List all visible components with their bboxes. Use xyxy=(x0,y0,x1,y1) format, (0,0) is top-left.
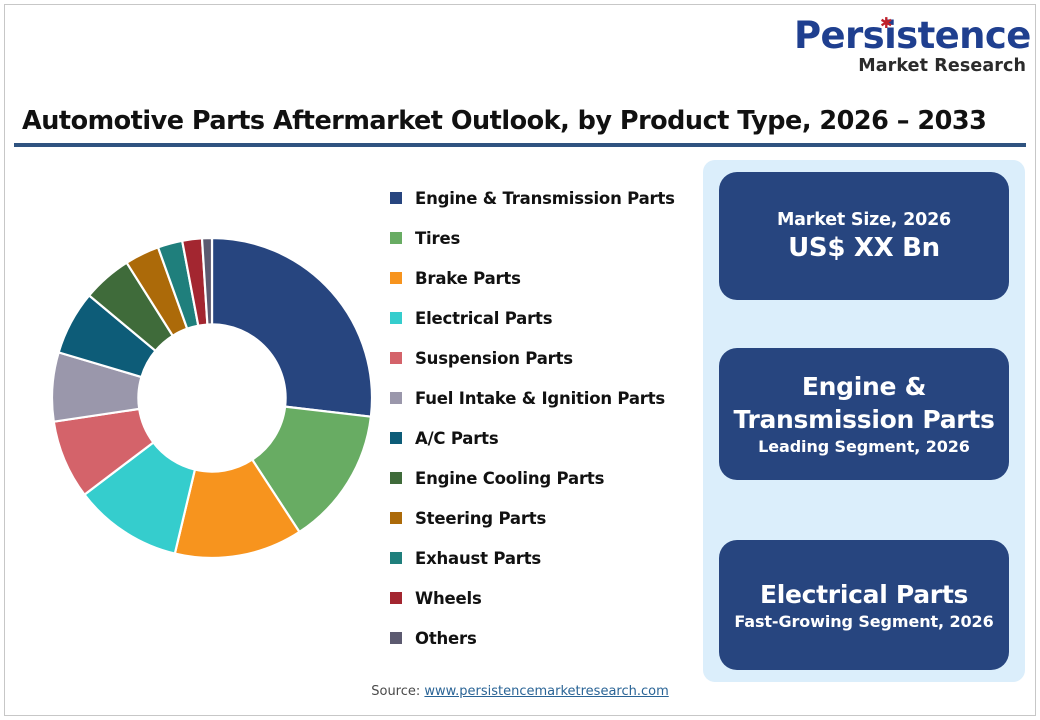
legend-item-label: Tires xyxy=(415,229,460,248)
legend-item[interactable]: Suspension Parts xyxy=(390,338,690,378)
legend-item[interactable]: Engine Cooling Parts xyxy=(390,458,690,498)
highlight-card-market-size: Market Size, 2026 US$ XX Bn xyxy=(719,172,1009,300)
legend-swatch-icon xyxy=(390,272,402,284)
legend-swatch-icon xyxy=(390,552,402,564)
legend-item-label: Exhaust Parts xyxy=(415,549,541,568)
legend-swatch-icon xyxy=(390,312,402,324)
legend-item-label: Electrical Parts xyxy=(415,309,552,328)
legend-item[interactable]: Electrical Parts xyxy=(390,298,690,338)
legend-item-label: A/C Parts xyxy=(415,429,498,448)
legend-item-label: Brake Parts xyxy=(415,269,521,288)
donut-slice[interactable] xyxy=(212,238,372,417)
legend-item[interactable]: Others xyxy=(390,618,690,658)
legend-swatch-icon xyxy=(390,592,402,604)
chart-legend: Engine & Transmission PartsTiresBrake Pa… xyxy=(390,178,690,658)
legend-item[interactable]: Tires xyxy=(390,218,690,258)
title-divider xyxy=(14,143,1026,147)
donut-slice-group xyxy=(52,238,372,558)
legend-item[interactable]: Steering Parts xyxy=(390,498,690,538)
legend-swatch-icon xyxy=(390,392,402,404)
source-url-link[interactable]: www.persistencemarketresearch.com xyxy=(424,684,668,699)
legend-item-label: Engine & Transmission Parts xyxy=(415,189,675,208)
card-fast-growing-segment-name: Electrical Parts xyxy=(760,578,968,611)
source-prefix-label: Source: xyxy=(371,684,424,699)
highlight-card-leading-segment: Engine & Transmission Parts Leading Segm… xyxy=(719,348,1009,480)
legend-swatch-icon xyxy=(390,232,402,244)
legend-item-label: Others xyxy=(415,629,477,648)
legend-item[interactable]: Fuel Intake & Ignition Parts xyxy=(390,378,690,418)
legend-swatch-icon xyxy=(390,352,402,364)
legend-item[interactable]: Brake Parts xyxy=(390,258,690,298)
legend-swatch-icon xyxy=(390,472,402,484)
brand-logo: Persistence ✱ Market Research xyxy=(794,16,1026,78)
legend-item-label: Engine Cooling Parts xyxy=(415,469,604,488)
brand-name-label: Persistence xyxy=(794,14,1031,57)
legend-item-label: Steering Parts xyxy=(415,509,546,528)
legend-item-label: Wheels xyxy=(415,589,482,608)
brand-name-text: Persistence ✱ xyxy=(794,16,1031,56)
legend-swatch-icon xyxy=(390,512,402,524)
legend-item-label: Suspension Parts xyxy=(415,349,573,368)
legend-item-label: Fuel Intake & Ignition Parts xyxy=(415,389,665,408)
card-market-size-caption: Market Size, 2026 xyxy=(777,208,951,232)
legend-item[interactable]: A/C Parts xyxy=(390,418,690,458)
brand-tagline-label: Market Research xyxy=(794,56,1026,76)
donut-chart-svg xyxy=(30,200,400,600)
legend-swatch-icon xyxy=(390,192,402,204)
star-icon: ✱ xyxy=(880,18,891,29)
card-leading-segment-caption: Leading Segment, 2026 xyxy=(758,436,970,458)
card-fast-growing-segment-caption: Fast-Growing Segment, 2026 xyxy=(734,611,993,633)
legend-swatch-icon xyxy=(390,432,402,444)
highlight-card-fast-growing-segment: Electrical Parts Fast-Growing Segment, 2… xyxy=(719,540,1009,670)
highlight-panel: Market Size, 2026 US$ XX Bn Engine & Tra… xyxy=(703,160,1025,682)
card-leading-segment-line1: Engine & xyxy=(802,370,926,403)
card-market-size-value: US$ XX Bn xyxy=(788,232,940,264)
donut-chart xyxy=(30,200,400,600)
card-leading-segment-line2: Transmission Parts xyxy=(733,403,994,436)
legend-item[interactable]: Wheels xyxy=(390,578,690,618)
page-title: Automotive Parts Aftermarket Outlook, by… xyxy=(22,106,982,136)
legend-swatch-icon xyxy=(390,632,402,644)
legend-item[interactable]: Engine & Transmission Parts xyxy=(390,178,690,218)
legend-item[interactable]: Exhaust Parts xyxy=(390,538,690,578)
source-line: Source: www.persistencemarketresearch.co… xyxy=(0,684,1040,699)
